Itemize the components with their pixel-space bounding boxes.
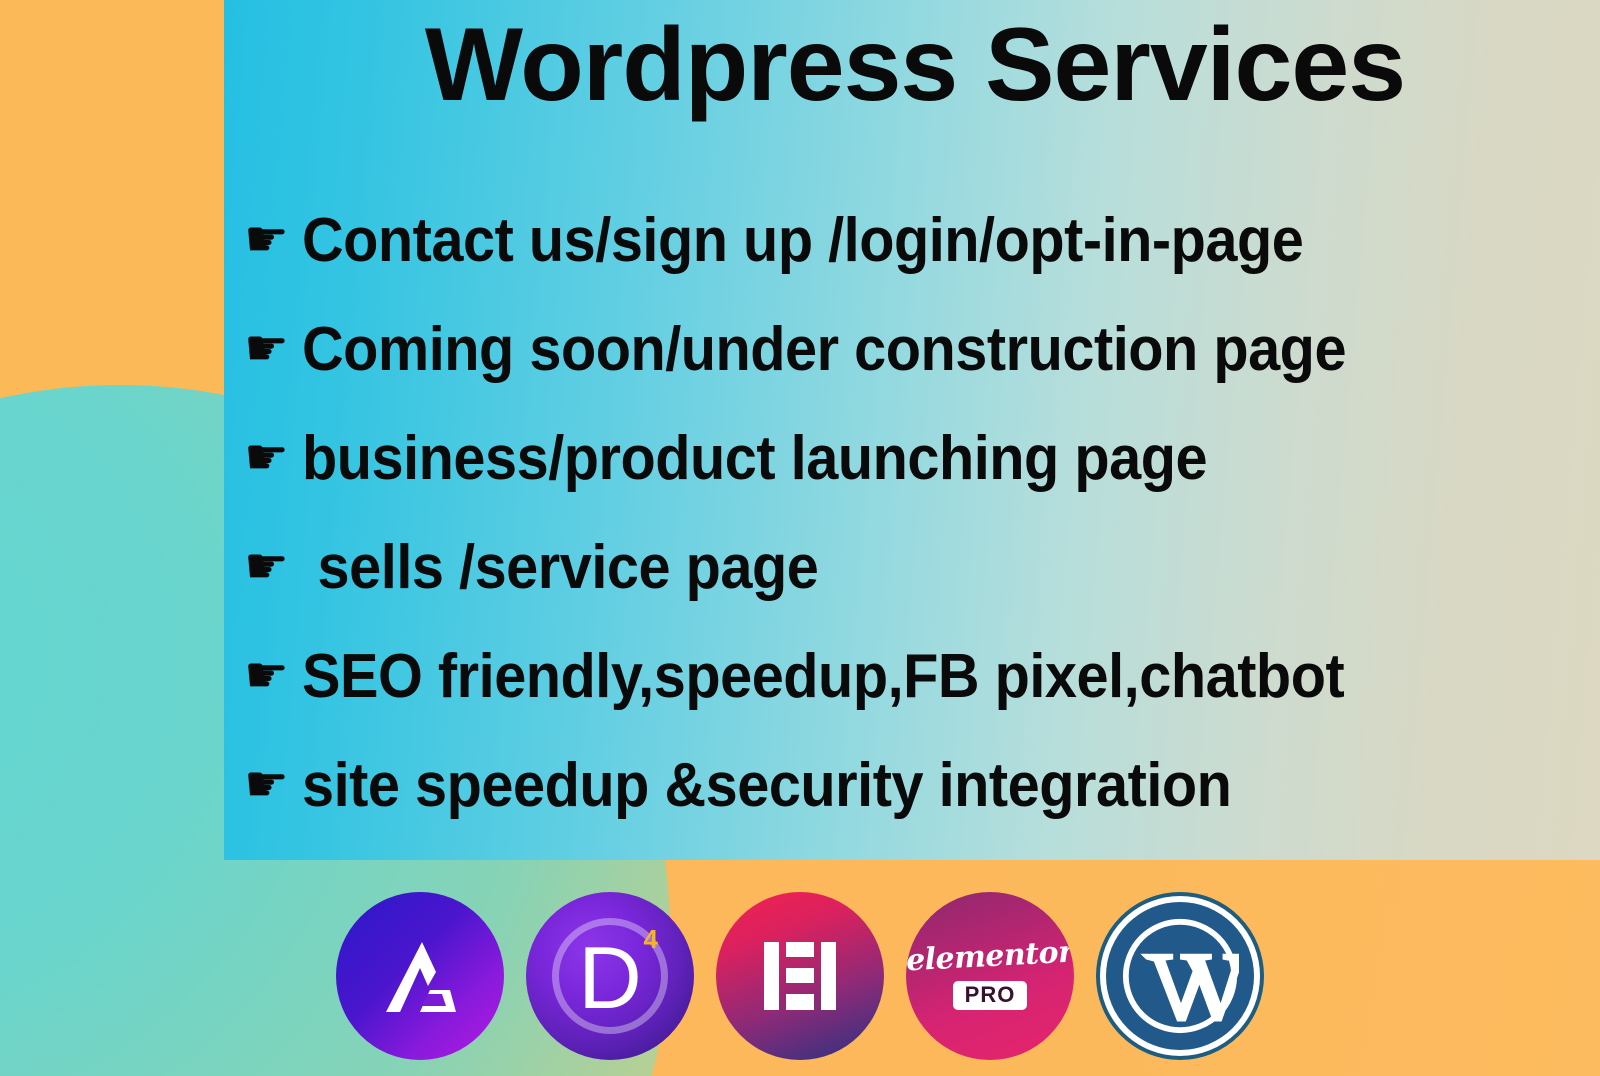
divi-logo-icon: D 4	[526, 892, 694, 1060]
services-list: ☛ Contact us/sign up /login/opt-in-page …	[244, 186, 1594, 840]
list-item: ☛ SEO friendly,speedup,FB pixel,chatbot	[244, 622, 1594, 731]
list-item-label: Contact us/sign up /login/opt-in-page	[302, 209, 1303, 273]
list-item: ☛ business/product launching page	[244, 404, 1594, 513]
list-item-label: business/product launching page	[302, 427, 1207, 491]
elementor-wordmark: elementor	[906, 938, 1074, 977]
list-item: ☛ Coming soon/under construction page	[244, 295, 1594, 404]
poster-canvas: Wordpress Services ☛ Contact us/sign up …	[0, 0, 1600, 1076]
pro-badge: PRO	[953, 981, 1028, 1010]
list-item: ☛ Contact us/sign up /login/opt-in-page	[244, 186, 1594, 295]
list-item: ☛ sells /service page	[244, 513, 1594, 622]
pointing-hand-icon: ☛	[244, 214, 302, 264]
wordpress-logo-icon	[1096, 892, 1264, 1060]
logo-row: D 4 elementor PRO	[0, 876, 1600, 1076]
divi-letter: D	[578, 934, 642, 1022]
pointing-hand-icon: ☛	[244, 541, 302, 591]
pointing-hand-icon: ☛	[244, 650, 302, 700]
list-item-label: sells /service page	[302, 536, 818, 600]
divi-version-badge: 4	[644, 926, 658, 952]
elementor-pro-logo-icon: elementor PRO	[906, 892, 1074, 1060]
astra-logo-icon	[336, 892, 504, 1060]
list-item: ☛ site speedup &security integration	[244, 731, 1594, 840]
pointing-hand-icon: ☛	[244, 759, 302, 809]
list-item-label: SEO friendly,speedup,FB pixel,chatbot	[302, 645, 1344, 709]
list-item-label: Coming soon/under construction page	[302, 318, 1346, 382]
list-item-label: site speedup &security integration	[302, 754, 1231, 818]
page-title: Wordpress Services	[250, 6, 1580, 124]
pointing-hand-icon: ☛	[244, 432, 302, 482]
wordpress-disc	[1106, 902, 1254, 1050]
pointing-hand-icon: ☛	[244, 323, 302, 373]
elementor-logo-icon	[716, 892, 884, 1060]
